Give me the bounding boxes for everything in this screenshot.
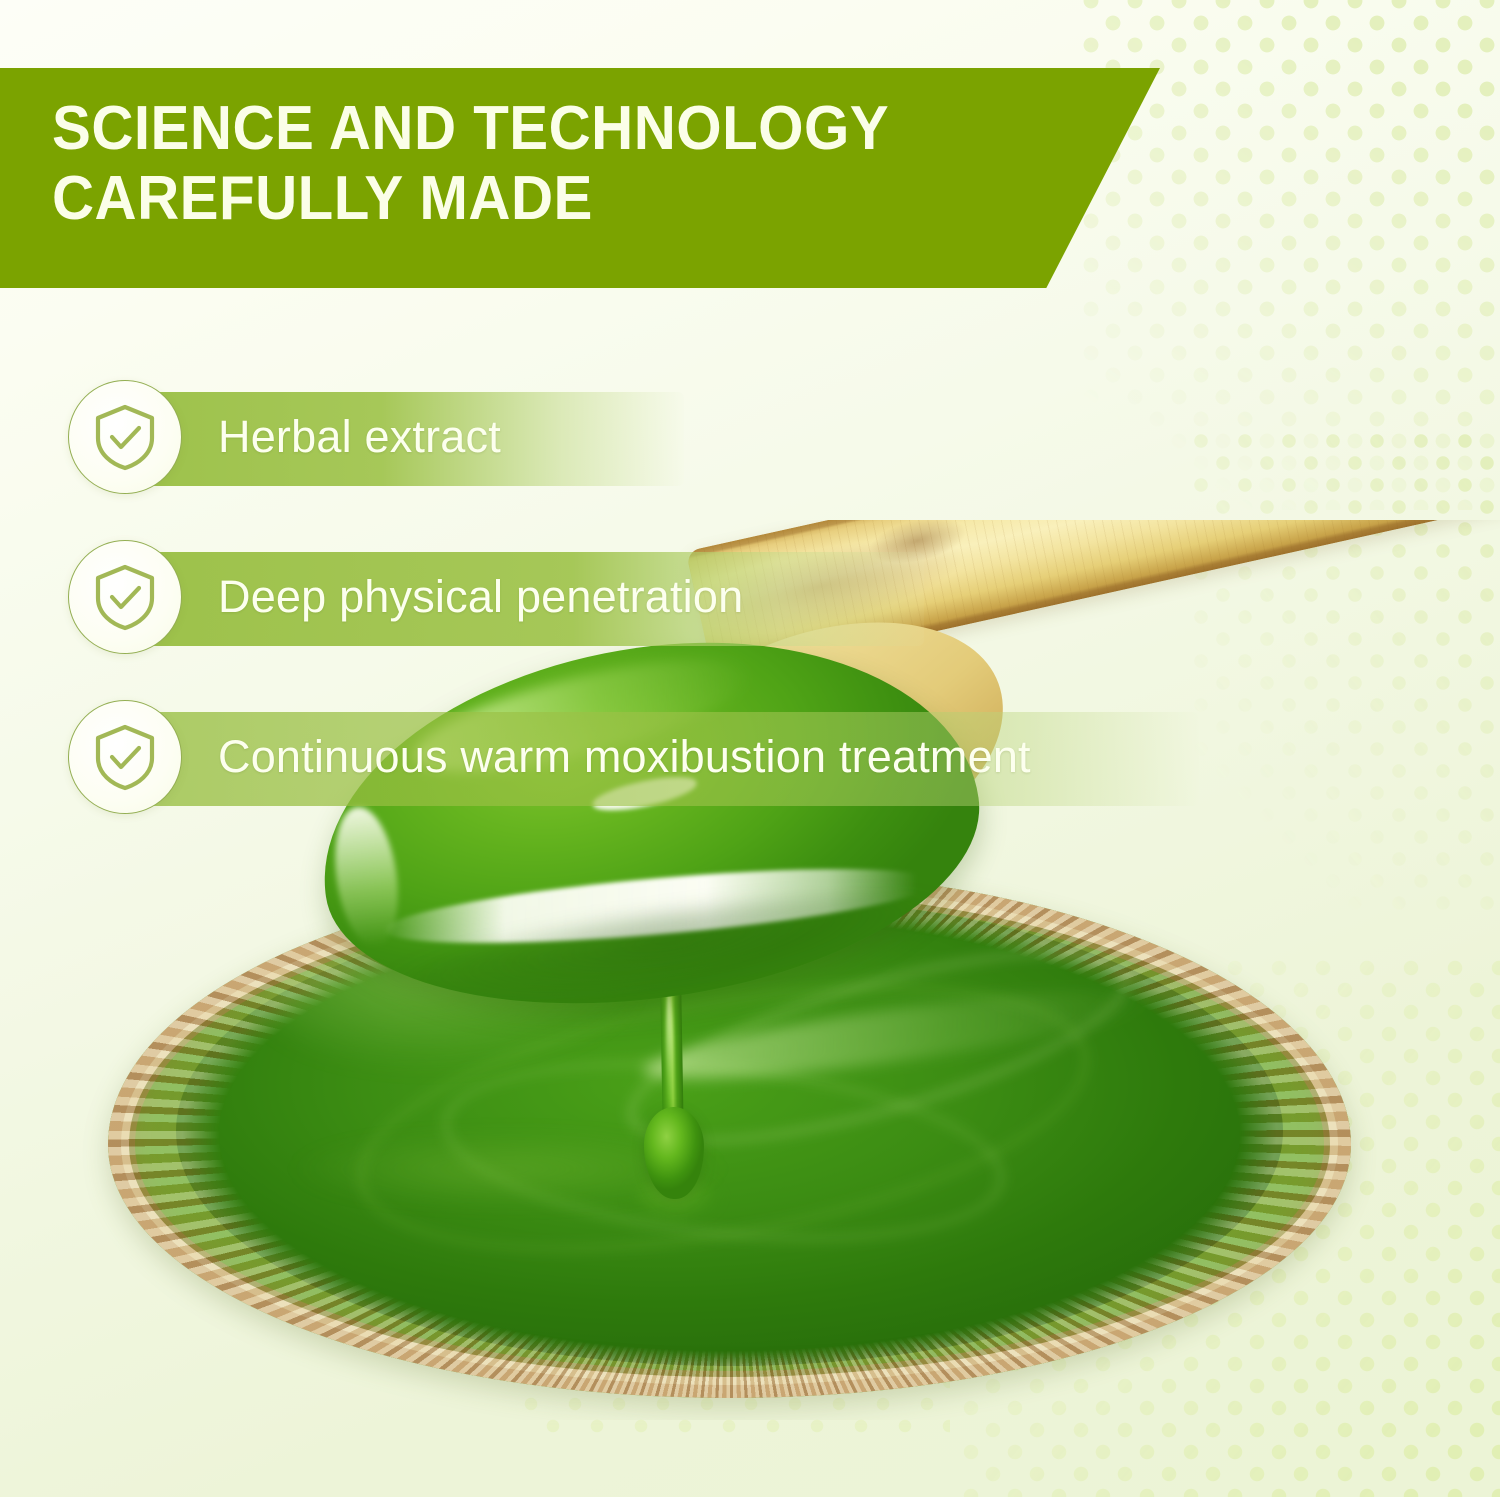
feature-badge xyxy=(68,700,182,814)
headline-banner: SCIENCE AND TECHNOLOGY CAREFULLY MADE xyxy=(0,68,1160,288)
feature-item-herbal-extract: Herbal extract xyxy=(68,378,501,496)
shield-check-icon xyxy=(92,562,158,632)
feature-label: Continuous warm moxibustion treatment xyxy=(218,731,1031,783)
feature-badge xyxy=(68,540,182,654)
feature-badge xyxy=(68,380,182,494)
shield-check-icon xyxy=(92,722,158,792)
feature-item-moxibustion: Continuous warm moxibustion treatment xyxy=(68,698,1031,816)
feature-label: Deep physical penetration xyxy=(218,571,743,623)
feature-item-deep-penetration: Deep physical penetration xyxy=(68,538,743,656)
feature-label: Herbal extract xyxy=(218,411,501,463)
headline-line-1: SCIENCE AND TECHNOLOGY xyxy=(52,94,1094,164)
shield-check-icon xyxy=(92,402,158,472)
product-infographic: SCIENCE AND TECHNOLOGY CAREFULLY MADE He… xyxy=(0,0,1500,1497)
headline-line-2: CAREFULLY MADE xyxy=(52,164,1094,234)
